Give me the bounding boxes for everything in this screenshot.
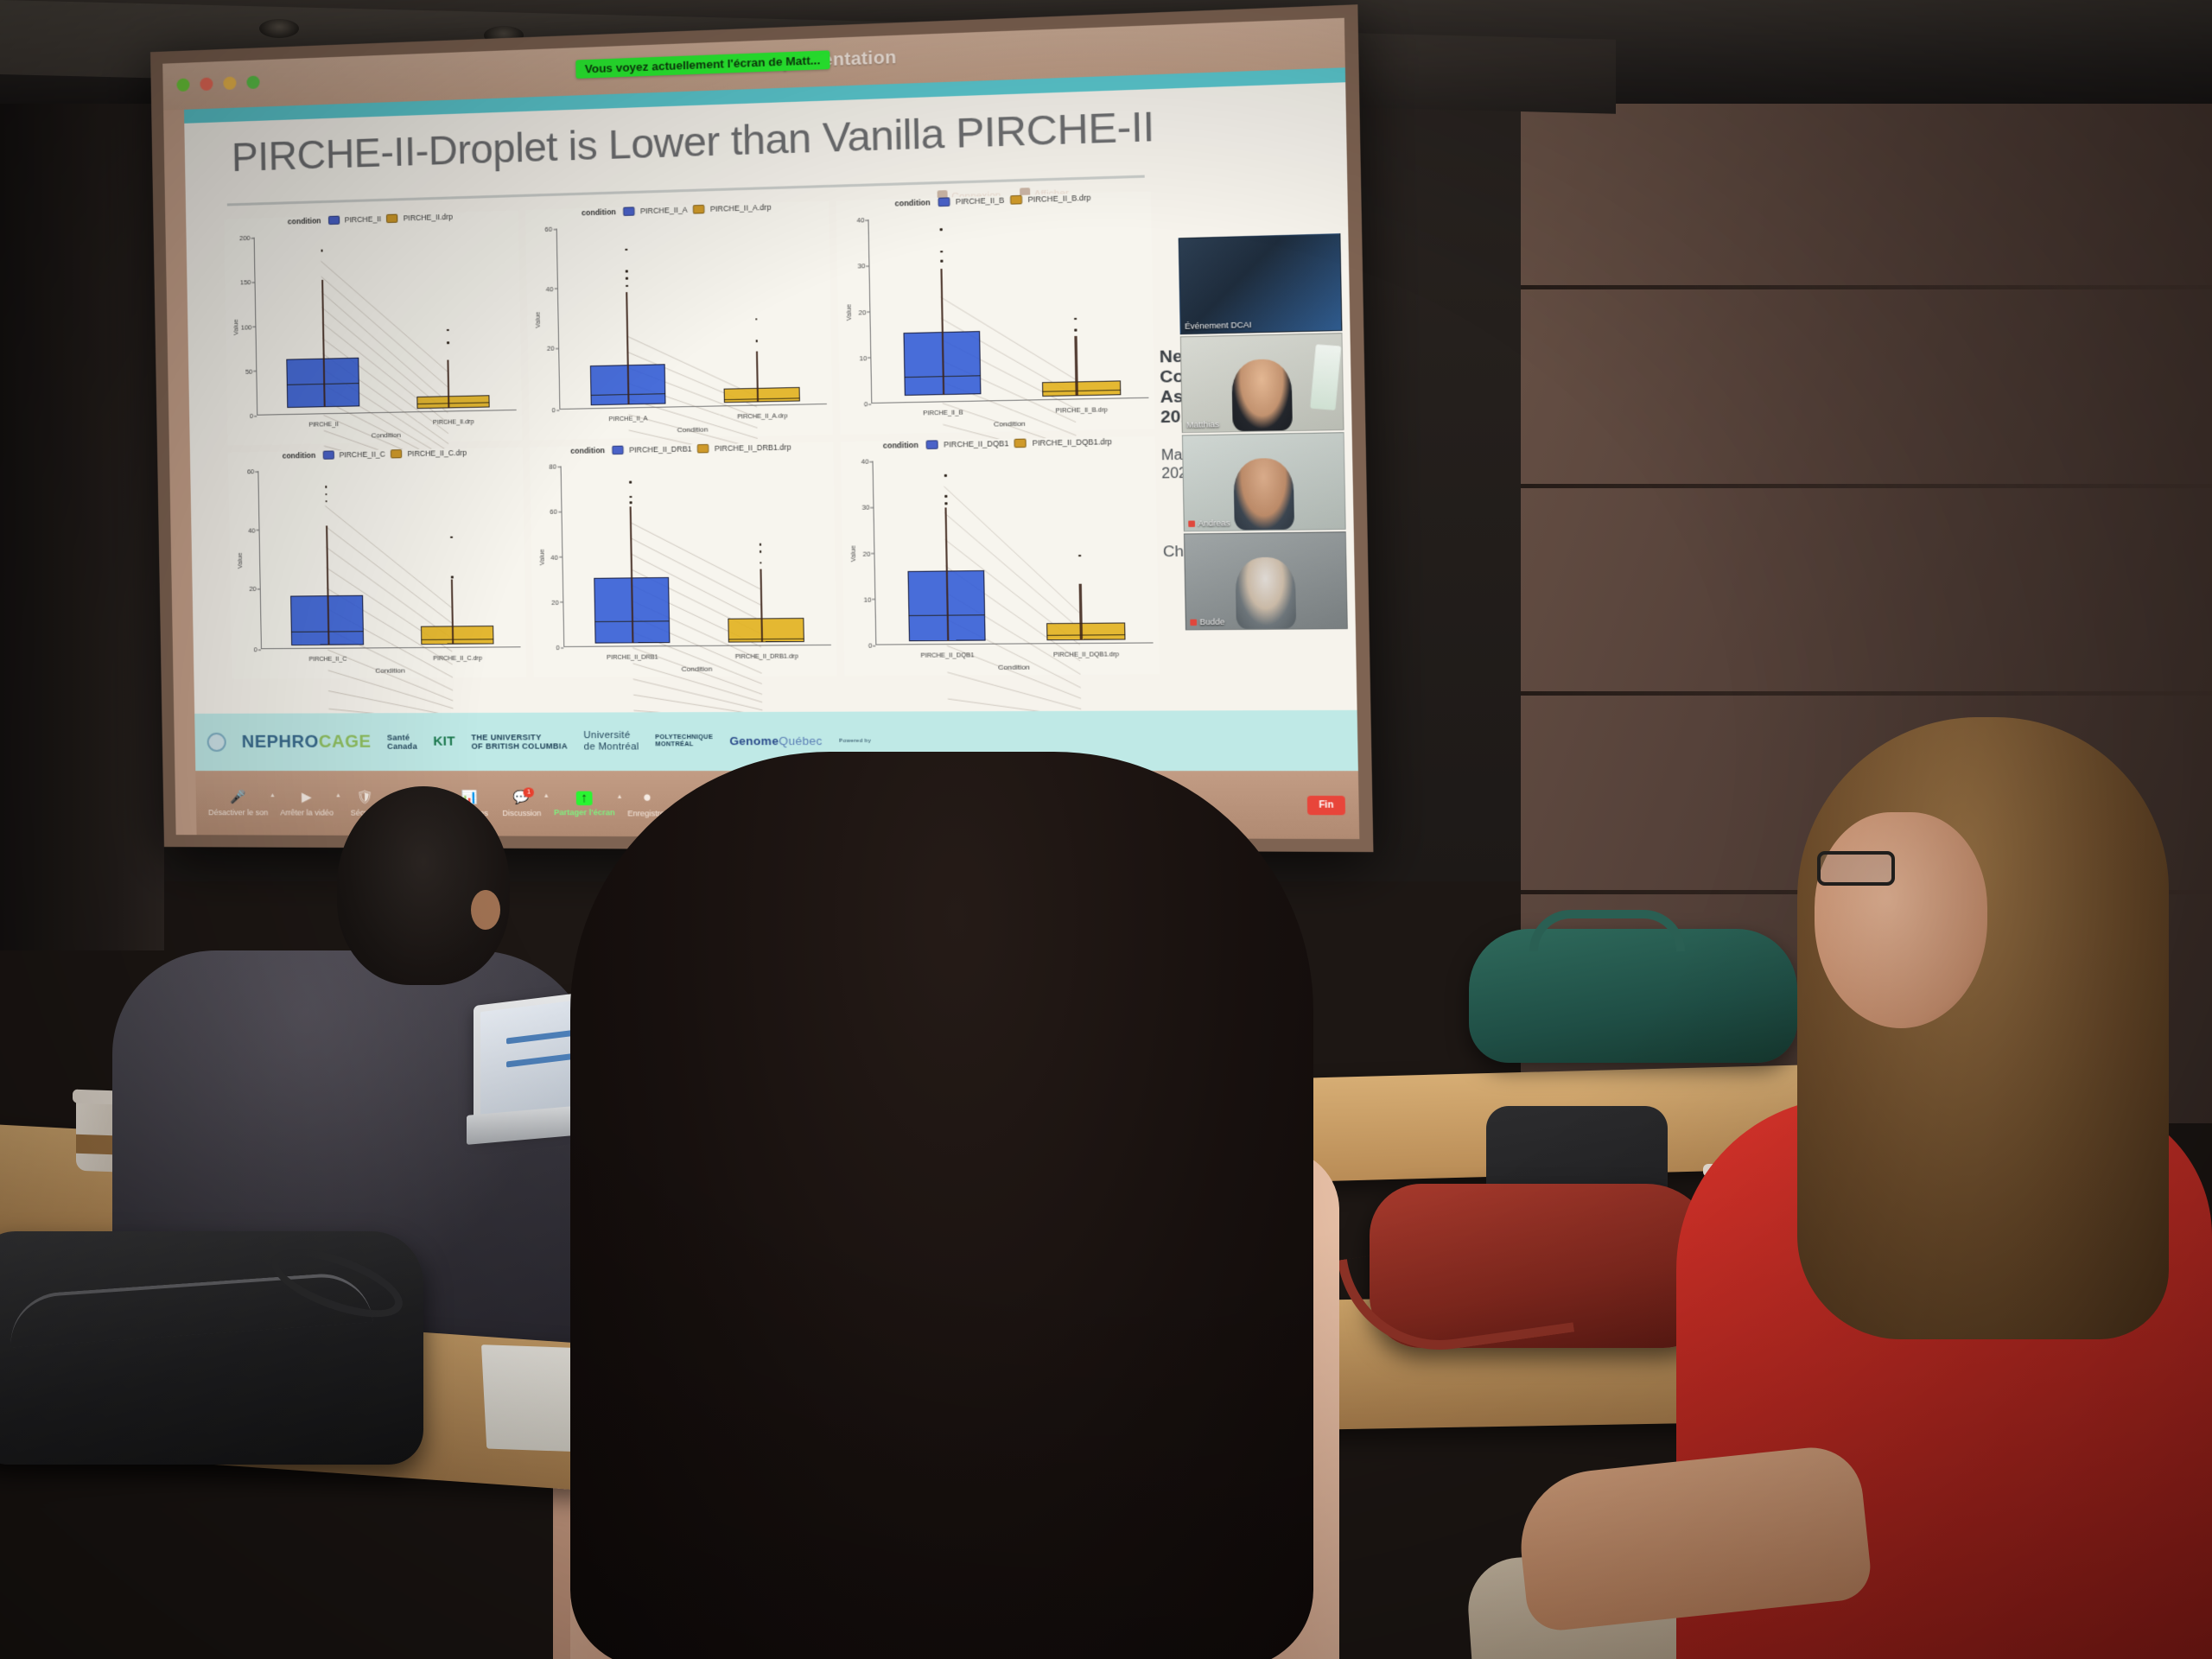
x-tick-label: PIRCHE_II_DQB1.drp	[1053, 652, 1119, 658]
genome-quebec-logo: GenomeQuébec	[729, 734, 823, 748]
plot-area: Value 0 10 20 30 40	[873, 456, 1154, 645]
chart-legend: condition PIRCHE_II_B PIRCHE_II_B.drp	[894, 193, 1090, 207]
participant-name: Andreas	[1188, 518, 1230, 528]
chevron-up-icon[interactable]: ▲	[335, 792, 341, 798]
person-center-shoulders	[553, 1106, 1331, 1659]
participant-face	[1233, 458, 1294, 531]
polls-button[interactable]: 📊 Sondages	[450, 790, 490, 817]
office-chair-right	[1884, 1521, 2212, 1659]
y-axis: 0 20 40 60	[532, 229, 559, 410]
chart-pirche-ii-dqb1: condition PIRCHE_II_DQB1 PIRCHE_II_DQB1.…	[841, 436, 1160, 676]
laptop-keyboard	[467, 1096, 683, 1145]
projection-screen: PowerPoint-Bildschirmpräsentation Vous v…	[150, 4, 1373, 852]
participant-tile[interactable]: Matthias	[1180, 333, 1344, 433]
legend-label: PIRCHE_II_B.drp	[1027, 193, 1090, 204]
outlier-point	[630, 501, 632, 504]
table-right	[1979, 1565, 2212, 1659]
bag-strap	[1338, 1229, 1574, 1363]
y-axis: 0 50 100 150 200	[232, 238, 257, 416]
person-right-arm	[1514, 1443, 1874, 1634]
mic-muted-icon	[1190, 619, 1197, 625]
security-button[interactable]: 🛡 Sécurité	[346, 790, 385, 817]
box-second	[421, 626, 494, 644]
legend-label: PIRCHE_II_C	[339, 449, 385, 459]
laptop-ui-bar	[506, 1022, 639, 1045]
chart-pirche-ii-c: condition PIRCHE_II_C PIRCHE_II_C.drp Va…	[228, 448, 526, 679]
person-center-arm-left	[570, 1149, 683, 1659]
zoom-left-controls[interactable]: 🎤 Désactiver le son ▲ ▶ Arrêter la vidéo…	[208, 790, 987, 818]
legend-swatch-blue	[322, 450, 334, 459]
laptop-screen	[474, 982, 672, 1135]
person-left-body	[112, 950, 596, 1365]
legend-label: PIRCHE_II_DRB1.drp	[715, 442, 791, 453]
outlier-point	[939, 228, 942, 231]
legend-swatch-blue	[938, 197, 950, 207]
camera-icon: ▶	[298, 790, 316, 805]
chevron-up-icon[interactable]: ▲	[270, 792, 276, 798]
table-middle-row-front	[1279, 1292, 1815, 1431]
participant-video-strip[interactable]: Événement DCAI Matthias Andreas Budde	[1179, 233, 1348, 632]
person-center-hair	[570, 752, 1313, 1659]
x-tick-label: PIRCHE_II.drp	[433, 419, 474, 426]
outlier-point	[626, 277, 628, 280]
x-tick-label: PIRCHE_II_A	[609, 416, 648, 423]
reactions-icon: ☺	[829, 790, 849, 806]
black-backpack	[0, 1231, 423, 1465]
notebook	[481, 1344, 668, 1455]
legend-swatch-gold	[693, 205, 705, 214]
legend-title: condition	[283, 451, 316, 461]
cc-icon: ▯	[690, 790, 709, 806]
backpack-zipper	[7, 1270, 372, 1347]
x-tick-label: PIRCHE_II	[308, 422, 339, 429]
x-tick-label: PIRCHE_II_A.drp	[737, 413, 787, 420]
x-tick-label: PIRCHE_II_DQB1	[920, 652, 974, 659]
outlier-point	[451, 575, 454, 578]
legend-label: PIRCHE_II_B	[956, 195, 1005, 206]
cup-lid	[73, 1090, 142, 1106]
x-tick-label: PIRCHE_II_B.drp	[1056, 407, 1108, 414]
shared-screen-content: PowerPoint-Bildschirmpräsentation Vous v…	[162, 18, 1359, 839]
zoom-right-controls[interactable]: Fin	[1307, 795, 1345, 814]
chart-pirche-ii-a: condition PIRCHE_II_A PIRCHE_II_A.drp Va…	[525, 201, 834, 441]
record-icon: ⏺	[638, 790, 656, 806]
boxplot-grid: condition PIRCHE_II PIRCHE_II.drp Value …	[224, 191, 1160, 678]
conference-room-scene: PowerPoint-Bildschirmpräsentation Vous v…	[0, 0, 2212, 1659]
right-wood-wall	[1521, 0, 2212, 1123]
participant-tile[interactable]: Budde	[1184, 531, 1348, 630]
outlier-point	[626, 270, 628, 273]
participant-tile[interactable]: Andreas	[1182, 432, 1346, 531]
share-screen-icon: ↑	[576, 791, 593, 804]
legend-swatch-gold	[391, 449, 402, 458]
whiteboard-icon: ☐	[893, 791, 912, 807]
mic-muted-icon	[1188, 520, 1195, 526]
person-right-trousers	[1465, 1532, 1887, 1659]
chart-legend: condition PIRCHE_II PIRCHE_II.drp	[288, 213, 453, 226]
nephro-cage-mark-icon	[207, 733, 226, 752]
person-right-red-top	[1676, 1097, 2212, 1659]
reactions-button[interactable]: ☺ Réactions ▲	[818, 790, 860, 817]
chart-pirche-ii-drb1: condition PIRCHE_II_DRB1 PIRCHE_II_DRB1.…	[530, 442, 838, 677]
sponsor-logo-bar: NEPHROCAGE Santé Canada KIT THE UNIVERSI…	[194, 710, 1358, 771]
stop-video-button[interactable]: ▶ Arrêter la vidéo ▲	[280, 790, 334, 817]
legend-swatch-blue	[623, 207, 635, 216]
nephro-banner-prop	[1310, 344, 1341, 410]
person-left-ear	[471, 890, 500, 930]
outlier-point	[629, 481, 632, 484]
x-tick-label: PIRCHE_II_B	[923, 410, 963, 416]
legend-label: PIRCHE_II.drp	[403, 213, 453, 223]
legend-swatch-blue	[925, 440, 938, 449]
box-second	[724, 386, 800, 403]
plot-area: Value 0 10 20 30 40	[868, 212, 1149, 404]
plot-area: Value 0 50 100 150 200	[254, 230, 517, 416]
person-center-arm-right	[1184, 1149, 1339, 1659]
legend-swatch-blue	[327, 216, 339, 225]
participant-tile[interactable]: Événement DCAI	[1179, 233, 1343, 334]
more-icon: ⋯	[957, 791, 976, 807]
wall-panel-seam	[1521, 691, 2212, 696]
cup-sleeve	[76, 1135, 138, 1156]
powerpoint-slide: Connexion Afficher PIRCHE-II-Droplet is …	[184, 67, 1359, 839]
outlier-point	[1078, 555, 1081, 557]
record-button[interactable]: ⏺ Enregistrer	[627, 790, 668, 817]
participant-name: Événement DCAI	[1185, 321, 1252, 331]
legend-label: PIRCHE_II_DQB1.drp	[1033, 437, 1112, 448]
udem-logo: Université de Montréal	[583, 730, 639, 753]
legend-label: PIRCHE_II_DRB1	[629, 444, 692, 454]
health-canada-logo: Santé Canada	[387, 733, 417, 751]
outlier-point	[447, 329, 449, 332]
whiteboards-button[interactable]: ☐ Tableaux blancs ▲	[872, 790, 932, 817]
zoom-control-bar[interactable]: 🎤 Désactiver le son ▲ ▶ Arrêter la vidéo…	[195, 771, 1359, 839]
chat-button[interactable]: 💬 1 Discussion ▲	[502, 790, 542, 817]
legend-swatch-gold	[1010, 195, 1022, 205]
outlier-point	[944, 502, 947, 505]
x-axis-label: Condition	[876, 663, 1154, 672]
legend-label: PIRCHE_II_A.drp	[710, 203, 772, 213]
wall-panel-seam	[1521, 285, 2212, 289]
outlier-point	[944, 474, 947, 477]
chevron-up-icon[interactable]: ▲	[543, 792, 549, 798]
x-axis-label: Condition	[261, 666, 520, 676]
plot-area: Value 0 20 40 60	[257, 467, 520, 649]
legend-label: PIRCHE_II_DQB1	[944, 439, 1009, 449]
chevron-up-icon[interactable]: ▲	[934, 793, 941, 799]
ceiling-light	[259, 19, 299, 38]
people-icon: 👥	[409, 790, 427, 805]
legend-label: PIRCHE_II	[345, 214, 381, 224]
breakout-rooms-button[interactable]: ▦ Salles de répartition	[733, 790, 806, 817]
end-meeting-button[interactable]: Fin	[1307, 795, 1345, 814]
nephro-cage-logo: NEPHROCAGE	[242, 732, 372, 752]
chart-pirche-ii-b: condition PIRCHE_II_B PIRCHE_II_B.drp Va…	[836, 191, 1155, 435]
y-axis: 0 10 20 30 40	[849, 461, 876, 645]
poll-icon: 📊	[461, 790, 479, 805]
x-tick-label: PIRCHE_II_C	[309, 657, 347, 663]
outlier-point	[626, 284, 628, 287]
x-axis-label: Condition	[563, 664, 832, 674]
outlier-point	[626, 248, 628, 251]
coffee-cup	[76, 1096, 138, 1173]
ubc-logo: THE UNIVERSITY OF BRITISH COLUMBIA	[471, 733, 568, 751]
legend-swatch-blue	[612, 446, 624, 454]
y-axis: 0 10 20 30 40	[844, 219, 872, 404]
x-tick-label: PIRCHE_II_DRB1	[607, 654, 658, 661]
x-tick-label: PIRCHE_II_C.drp	[433, 656, 482, 662]
legend-swatch-gold	[1014, 439, 1027, 448]
backpack-strap	[264, 1235, 411, 1331]
participants-button[interactable]: 👥 Participants ▲	[397, 790, 439, 817]
outlier-point	[940, 260, 943, 263]
y-axis: 0 20 40 60	[235, 471, 261, 649]
box-second	[1042, 380, 1121, 397]
wall-panel-seam	[1521, 890, 2212, 894]
office-chair	[1486, 1106, 1668, 1305]
bmbf-logo: Powered by	[839, 738, 871, 744]
breakout-rooms-icon: ▦	[760, 790, 779, 806]
laptop-ui-bar	[506, 1049, 607, 1067]
shield-icon: 🛡	[356, 790, 374, 805]
participant-face	[1231, 359, 1293, 431]
y-axis: 0 20 40 60 80	[537, 466, 563, 647]
table-left-row-front	[0, 1300, 588, 1491]
microphone-icon: 🎤	[229, 790, 246, 805]
captions-button[interactable]: ▯ Sous-titres	[680, 790, 721, 817]
laptop-display	[480, 989, 665, 1126]
chevron-up-icon[interactable]: ▲	[440, 792, 446, 798]
chevron-up-icon[interactable]: ▲	[616, 793, 622, 799]
chart-legend: condition PIRCHE_II_A PIRCHE_II_A.drp	[582, 203, 772, 218]
red-leather-bag	[1370, 1184, 1715, 1348]
mute-button[interactable]: 🎤 Désactiver le son ▲	[208, 790, 269, 817]
legend-swatch-gold	[697, 444, 709, 454]
legend-label: PIRCHE_II_C.drp	[407, 448, 467, 458]
legend-label: PIRCHE_II_A	[640, 205, 688, 215]
legend-title: condition	[894, 198, 930, 208]
legend-title: condition	[582, 207, 616, 217]
share-screen-button[interactable]: ↑ Partager l'écran ▲	[554, 791, 615, 817]
more-button[interactable]: ⋯ Plus	[945, 791, 987, 818]
chart-pirche-ii: condition PIRCHE_II PIRCHE_II.drp Value …	[224, 210, 522, 445]
legend-swatch-gold	[386, 214, 397, 224]
cup-lid	[1703, 1164, 1772, 1177]
outlier-point	[447, 341, 449, 344]
wall-panel-seam	[1521, 484, 2212, 488]
polytechnique-montreal-logo: POLYTECHNIQUE MONTRÉAL	[655, 734, 713, 749]
plot-area: Value 0 20 40 60 80	[560, 461, 831, 647]
legend-title: condition	[570, 446, 605, 455]
chat-unread-badge: 1	[524, 787, 535, 797]
participant-name: Matthias	[1186, 420, 1219, 429]
outlier-point	[944, 495, 947, 498]
participant-face	[1235, 557, 1296, 629]
participant-name: Budde	[1190, 617, 1224, 626]
outlier-point	[1075, 329, 1077, 332]
legend-title: condition	[883, 441, 918, 450]
paper-cup	[1707, 1171, 1769, 1245]
table-left-row	[0, 1123, 631, 1270]
box-second	[1046, 623, 1125, 640]
chevron-up-icon[interactable]: ▲	[861, 793, 868, 799]
plot-area: Value 0 20 40 60	[556, 221, 827, 410]
x-tick-label: PIRCHE_II_DRB1.drp	[735, 653, 798, 660]
left-wall	[0, 0, 164, 950]
kit-logo: KIT	[433, 734, 455, 750]
legend-title: condition	[288, 216, 321, 226]
